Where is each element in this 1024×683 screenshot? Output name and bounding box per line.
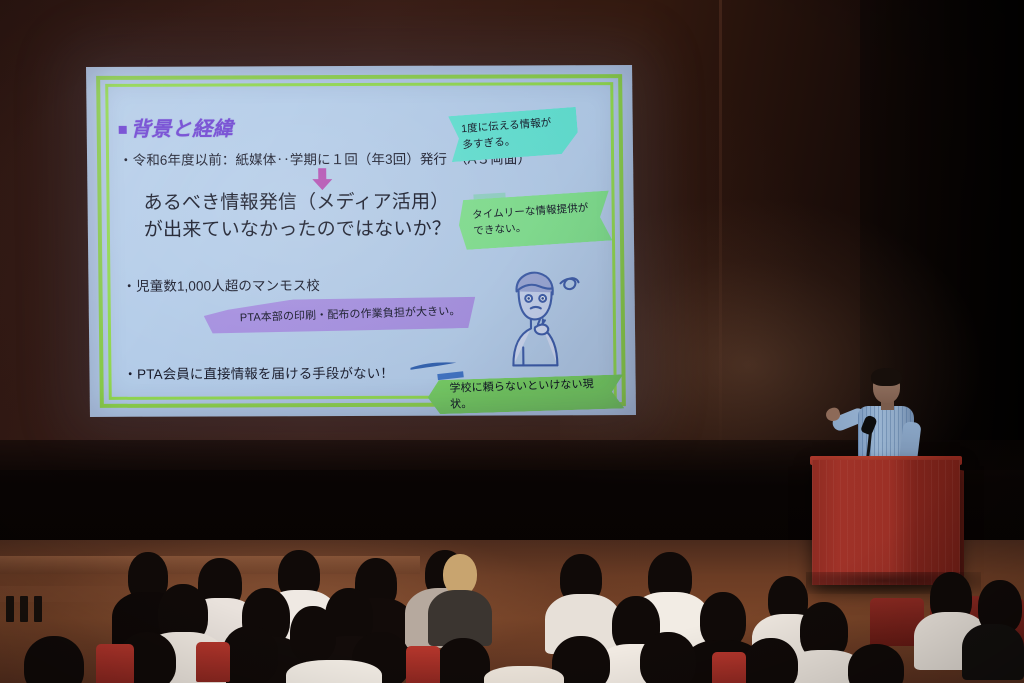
statement-line-2: が出来ていなかったのではないか？ xyxy=(144,217,452,245)
slide-content: 背景と経緯 ・令和6年度以前：紙媒体‥学期に１回（年3回）発行 （A３両面） あ… xyxy=(112,89,609,393)
wall-seam xyxy=(719,0,722,470)
pointer-swoosh-icon xyxy=(410,362,456,370)
theater-seat xyxy=(196,642,230,682)
slide-bullet-3: ・PTA会員に直接情報を届ける手段がない！ xyxy=(123,362,394,383)
down-arrow-icon xyxy=(312,168,332,190)
callout-print-burden: PTA本部の印刷・配布の作業負担が大きい。 xyxy=(203,294,476,337)
callout-too-much-info: 1度に伝える情報が 多すぎる。 xyxy=(448,107,579,162)
audience-head xyxy=(24,636,84,683)
thinking-person-illustration xyxy=(486,261,583,373)
callout-not-timely: タイムリーな情報提供が できない。 xyxy=(457,191,612,251)
audience-head xyxy=(436,638,490,683)
title-bullet-marker xyxy=(119,126,127,134)
theater-seat xyxy=(712,652,746,683)
theater-seat xyxy=(96,644,134,683)
audience-body xyxy=(484,666,564,683)
audience-head xyxy=(222,626,278,683)
statement-line-1: あるべき情報発信（メディア活用） xyxy=(143,190,451,218)
slide-title: 背景と経緯 xyxy=(119,112,234,141)
audience-head xyxy=(744,638,798,683)
audience-body xyxy=(962,624,1024,680)
slide-key-statement: あるべき情報発信（メディア活用） が出来ていなかったのではないか？ xyxy=(143,190,451,245)
slide-bullet-2: ・児童数1,000人超のマンモス校 xyxy=(122,274,320,295)
callout-connector-2 xyxy=(437,371,464,380)
speaker-hair xyxy=(871,368,902,386)
audience-head xyxy=(848,644,904,683)
audience: PTA xyxy=(0,540,1024,683)
slide-surface: 背景と経緯 ・令和6年度以前：紙媒体‥学期に１回（年3回）発行 （A３両面） あ… xyxy=(86,65,636,417)
projection-screen: 背景と経緯 ・令和6年度以前：紙媒体‥学期に１回（年3回）発行 （A３両面） あ… xyxy=(86,65,636,417)
audience-head xyxy=(290,606,336,662)
audience-body xyxy=(286,660,382,683)
slide-title-text: 背景と経緯 xyxy=(131,118,234,140)
callout-green2-line-1: 学校に頼らないといけない現状。 xyxy=(449,375,610,413)
audience-head xyxy=(640,632,696,683)
callout-purple-line-1: PTA本部の印刷・配布の作業負担が大きい。 xyxy=(240,303,461,326)
callout-rely-on-school: 学校に頼らないといけない現状。 xyxy=(427,374,624,414)
auditorium-scene: 背景と経緯 ・令和6年度以前：紙媒体‥学期に１回（年3回）発行 （A３両面） あ… xyxy=(0,0,1024,683)
theater-seat xyxy=(406,646,440,683)
